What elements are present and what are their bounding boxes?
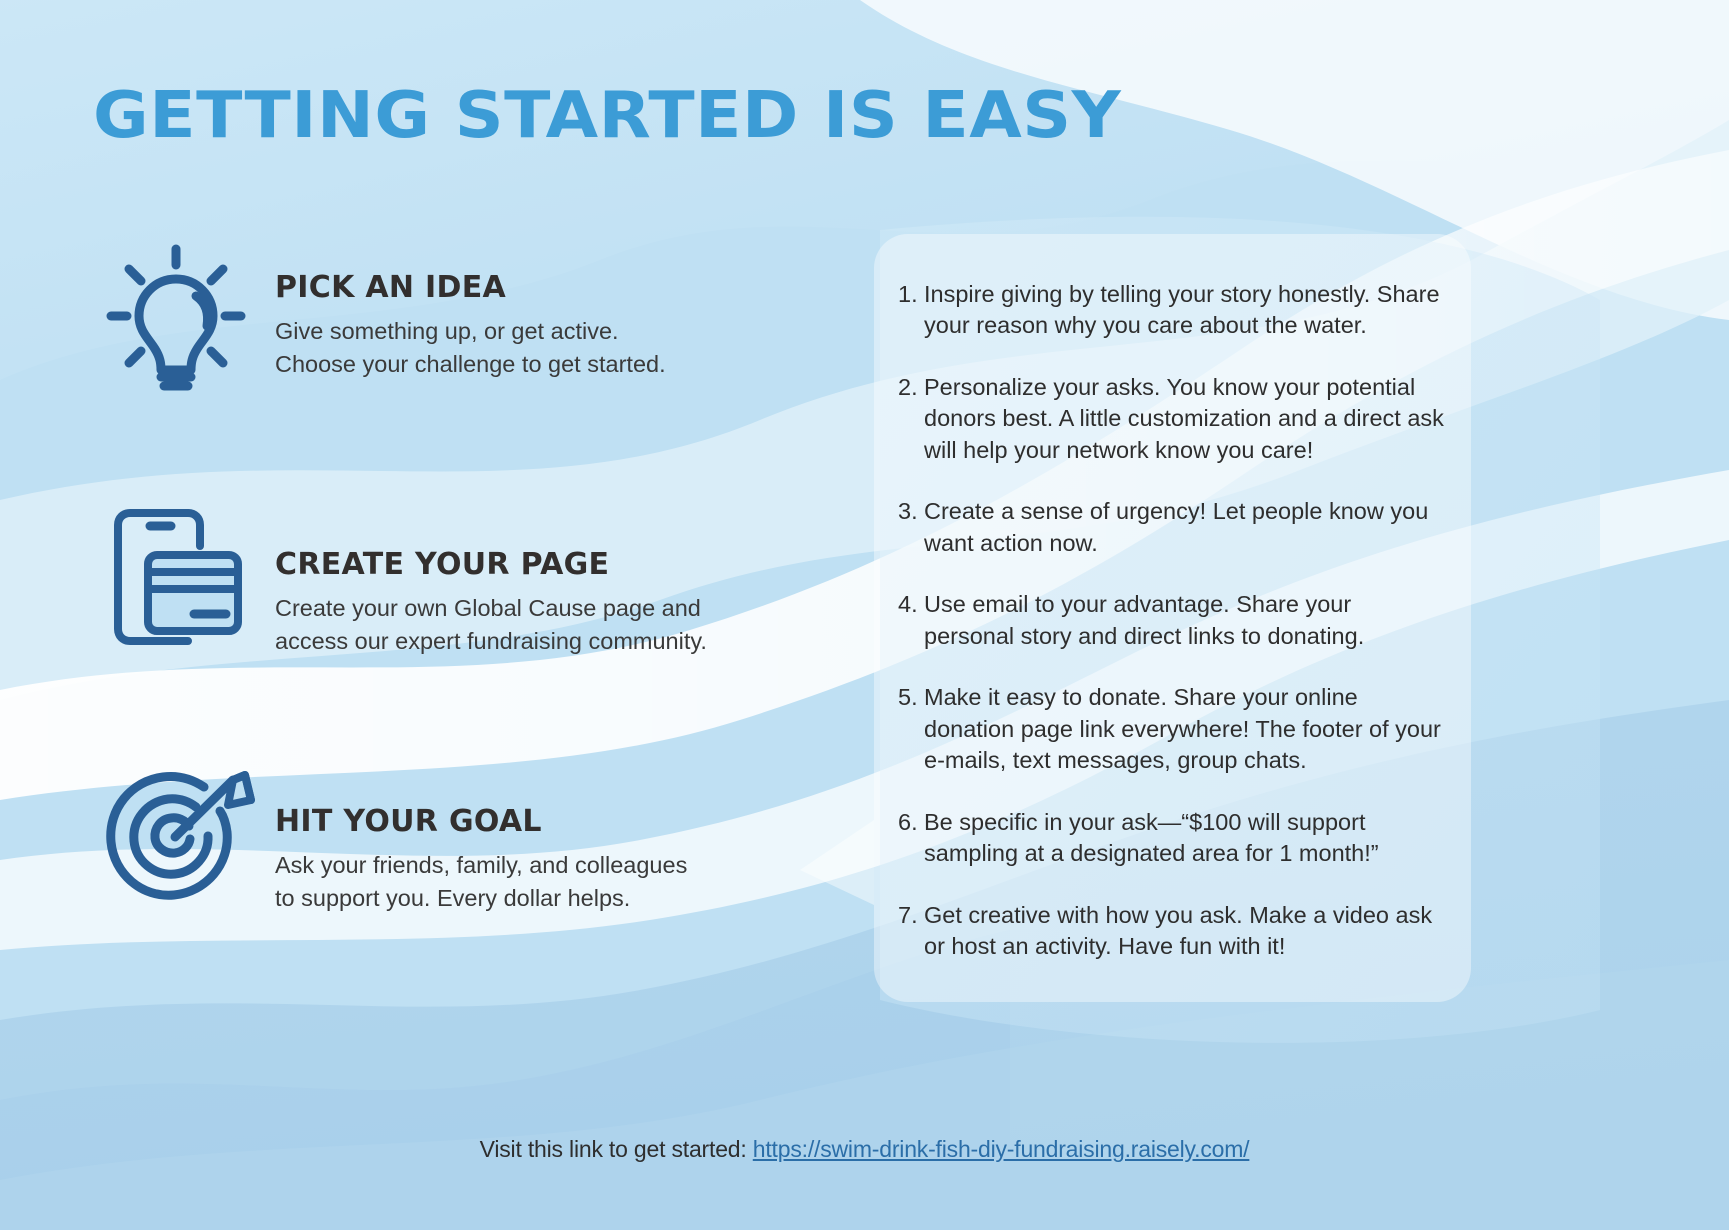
steps-list: PICK AN IDEA Give something up, or get a…: [88, 236, 788, 917]
list-item-number: 3.: [898, 496, 924, 527]
list-item-number: 2.: [898, 372, 924, 403]
poster-canvas: GETTING STARTED IS EASY: [0, 0, 1729, 1230]
list-item: 3. Create a sense of urgency! Let people…: [898, 496, 1446, 559]
list-item: 4. Use email to your advantage. Share yo…: [898, 589, 1446, 652]
phone-credit-card-icon: [88, 489, 263, 664]
list-item-text: Create a sense of urgency! Let people kn…: [924, 496, 1446, 559]
list-item-number: 1.: [898, 279, 924, 310]
step-description-line: access our expert fundraising community.: [275, 625, 707, 658]
list-item-text: Use email to your advantage. Share your …: [924, 589, 1446, 652]
step-description-line: Give something up, or get active.: [275, 315, 666, 348]
fundraising-tips-list: 1. Inspire giving by telling your story …: [898, 279, 1446, 993]
list-item-number: 4.: [898, 589, 924, 620]
step-description: Ask your friends, family, and colleagues…: [275, 849, 687, 916]
step-title: CREATE YOUR PAGE: [275, 547, 707, 582]
page-title: GETTING STARTED IS EASY: [93, 84, 1121, 148]
step-description: Give something up, or get active. Choose…: [275, 315, 666, 382]
list-item-text: Be specific in your ask—“$100 will suppo…: [924, 807, 1446, 870]
list-item: 1. Inspire giving by telling your story …: [898, 279, 1446, 342]
list-item: 5. Make it easy to donate. Share your on…: [898, 682, 1446, 776]
step-text-block: HIT YOUR GOAL Ask your friends, family, …: [263, 742, 687, 916]
list-item: 6. Be specific in your ask—“$100 will su…: [898, 807, 1446, 870]
step-item: HIT YOUR GOAL Ask your friends, family, …: [88, 742, 788, 917]
step-description-line: Ask your friends, family, and colleagues: [275, 849, 687, 882]
step-description-line: Create your own Global Cause page and: [275, 592, 707, 625]
step-description-line: Choose your challenge to get started.: [275, 348, 666, 381]
step-description-line: to support you. Every dollar helps.: [275, 882, 687, 915]
footer: Visit this link to get started: https://…: [0, 1136, 1729, 1163]
list-item-number: 5.: [898, 682, 924, 713]
step-title: PICK AN IDEA: [275, 270, 666, 305]
step-text-block: CREATE YOUR PAGE Create your own Global …: [263, 489, 707, 659]
target-arrow-icon: [88, 742, 263, 917]
step-description: Create your own Global Cause page and ac…: [275, 592, 707, 659]
list-item: 7. Get creative with how you ask. Make a…: [898, 900, 1446, 963]
step-text-block: PICK AN IDEA Give something up, or get a…: [263, 236, 666, 382]
step-title: HIT YOUR GOAL: [275, 804, 687, 839]
step-item: PICK AN IDEA Give something up, or get a…: [88, 236, 788, 411]
list-item-text: Get creative with how you ask. Make a vi…: [924, 900, 1446, 963]
fundraising-page-link[interactable]: https://swim-drink-fish-diy-fundraising.…: [753, 1136, 1250, 1162]
list-item: 2. Personalize your asks. You know your …: [898, 372, 1446, 466]
step-item: CREATE YOUR PAGE Create your own Global …: [88, 489, 788, 664]
list-item-number: 6.: [898, 807, 924, 838]
list-item-text: Make it easy to donate. Share your onlin…: [924, 682, 1446, 776]
footer-prefix-text: Visit this link to get started:: [480, 1136, 753, 1162]
lightbulb-icon: [88, 236, 263, 411]
list-item-text: Inspire giving by telling your story hon…: [924, 279, 1446, 342]
list-item-number: 7.: [898, 900, 924, 931]
list-item-text: Personalize your asks. You know your pot…: [924, 372, 1446, 466]
